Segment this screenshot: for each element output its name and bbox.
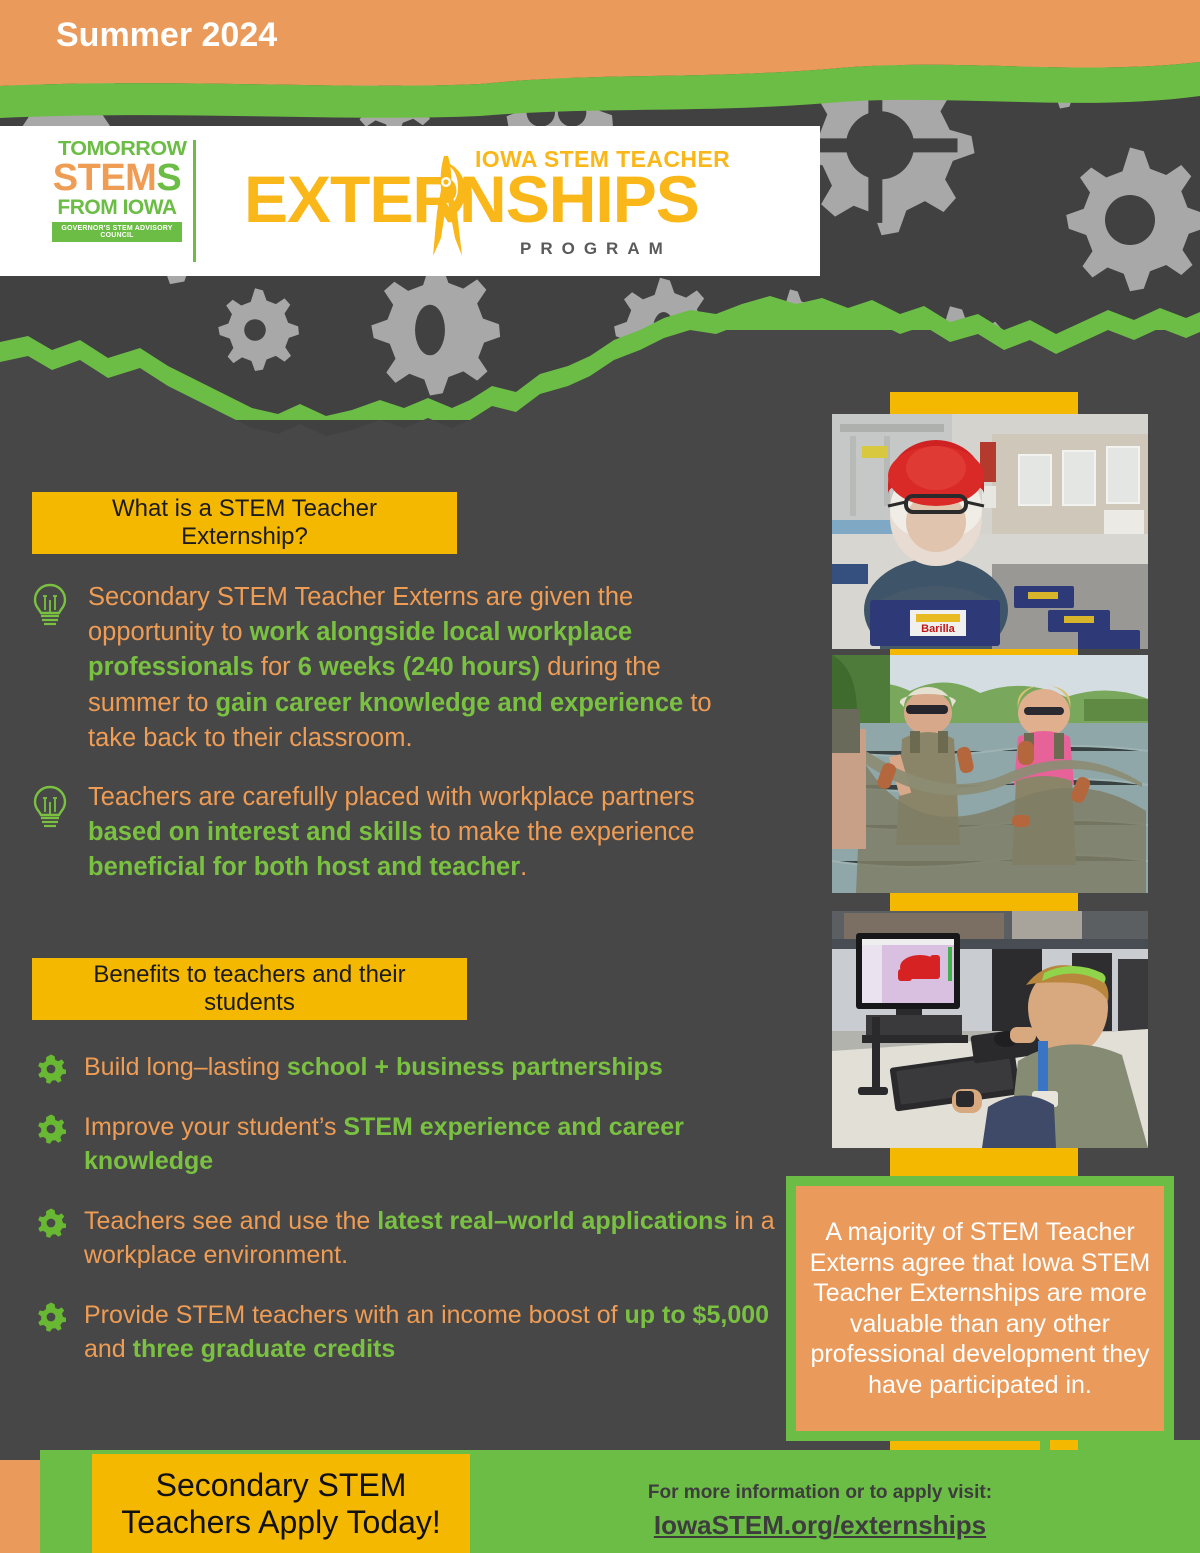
tomorrow-stems-logo: TOMORROW STEMS FROM IOWA GOVERNOR'S STEM… — [52, 140, 182, 242]
flyer-page: Summer 2024 TOMORROW STEMS FROM IOWA GOV… — [0, 0, 1200, 1553]
logo-council-label: GOVERNOR'S STEM ADVISORY COUNCIL — [52, 222, 182, 242]
text-run-highlight: school + business partnerships — [287, 1053, 663, 1081]
testimonial-callout: A majority of STEM Teacher Externs agree… — [786, 1176, 1174, 1441]
lightbulb-icon — [30, 582, 70, 628]
logo-line-from-iowa: FROM IOWA — [52, 198, 182, 218]
benefit-item-text: Improve your student’s STEM experience a… — [84, 1113, 684, 1175]
logo-line-tomorrow: TOMORROW — [52, 140, 192, 159]
paragraph-externship-definition: Secondary STEM Teacher Externs are given… — [88, 580, 738, 756]
logo-stem-text: STEM — [53, 157, 157, 199]
benefit-item: Teachers see and use the latest real–wor… — [32, 1204, 792, 1272]
compass-divider-icon — [417, 152, 477, 272]
logo-line-stems: STEMS — [52, 160, 182, 196]
text-run: . — [520, 853, 527, 881]
text-run-highlight: latest real–world applications — [377, 1207, 727, 1235]
footer-url-link[interactable]: IowaSTEM.org/externships — [560, 1510, 1080, 1541]
header: Summer 2024 TOMORROW STEMS FROM IOWA GOV… — [0, 0, 1200, 455]
text-run: Improve your student’s — [84, 1113, 343, 1141]
paragraph-placement-matching: Teachers are carefully placed with workp… — [88, 780, 728, 886]
text-run: to make the experience — [422, 818, 694, 846]
text-run: Teachers see and use the — [84, 1207, 377, 1235]
text-run: Teachers are carefully placed with workp… — [88, 783, 695, 811]
logo-s-text: S — [156, 157, 181, 199]
text-run-highlight: three graduate credits — [133, 1335, 396, 1363]
text-run: for — [254, 653, 298, 681]
title-subtitle: PROGRAM — [520, 239, 672, 259]
footer-info: For more information or to apply visit: … — [560, 1482, 1080, 1541]
gear-icon — [36, 1208, 66, 1238]
benefit-item-text: Build long–lasting school + business par… — [84, 1053, 663, 1081]
footer: Secondary STEM Teachers Apply Today! For… — [0, 1440, 1200, 1553]
logo-bar: TOMORROW STEMS FROM IOWA GOVERNOR'S STEM… — [0, 126, 820, 276]
gear-icon — [36, 1114, 66, 1144]
text-run-highlight: 6 weeks (240 hours) — [298, 653, 540, 681]
program-title-lockup: IOWA STEM TEACHER EXTERNSHIPS PROGRAM — [230, 142, 770, 264]
gear-icon — [36, 1114, 66, 1144]
logo-divider — [193, 140, 196, 262]
apply-cta-box[interactable]: Secondary STEM Teachers Apply Today! — [92, 1454, 470, 1553]
footer-info-line: For more information or to apply visit: — [560, 1482, 1080, 1504]
gear-icon — [36, 1054, 66, 1084]
lightbulb-icon — [30, 784, 70, 830]
banner-what-is-externship: What is a STEM Teacher Externship? — [32, 492, 457, 554]
banner-benefits: Benefits to teachers and their students — [32, 958, 467, 1020]
text-run-highlight: gain career knowledge and experience — [216, 689, 684, 717]
benefit-item: Improve your student’s STEM experience a… — [32, 1110, 792, 1178]
text-run-highlight: up to $5,000 — [625, 1301, 770, 1329]
testimonial-text: A majority of STEM Teacher Externs agree… — [796, 1186, 1164, 1431]
gear-icon — [36, 1302, 66, 1332]
benefit-item-text: Provide STEM teachers with an income boo… — [84, 1301, 769, 1363]
gear-icon — [36, 1054, 66, 1084]
text-run-highlight: beneficial for both host and teacher — [88, 853, 520, 881]
benefit-item-text: Teachers see and use the latest real–wor… — [84, 1207, 775, 1269]
text-run: Provide STEM teachers with an income boo… — [84, 1301, 625, 1329]
text-run: and — [84, 1335, 133, 1363]
text-run-highlight: based on interest and skills — [88, 818, 422, 846]
benefit-item: Build long–lasting school + business par… — [32, 1050, 792, 1084]
text-run: Build long–lasting — [84, 1053, 287, 1081]
text-run: Secondary STEM Teacher Externs — [88, 583, 479, 611]
benefits-list: Build long–lasting school + business par… — [32, 1050, 792, 1392]
gear-icon — [36, 1208, 66, 1238]
benefit-item: Provide STEM teachers with an income boo… — [32, 1298, 792, 1366]
issue-label: Summer 2024 — [56, 16, 277, 55]
footer-orange-accent — [0, 1460, 40, 1553]
gear-icon — [36, 1302, 66, 1332]
